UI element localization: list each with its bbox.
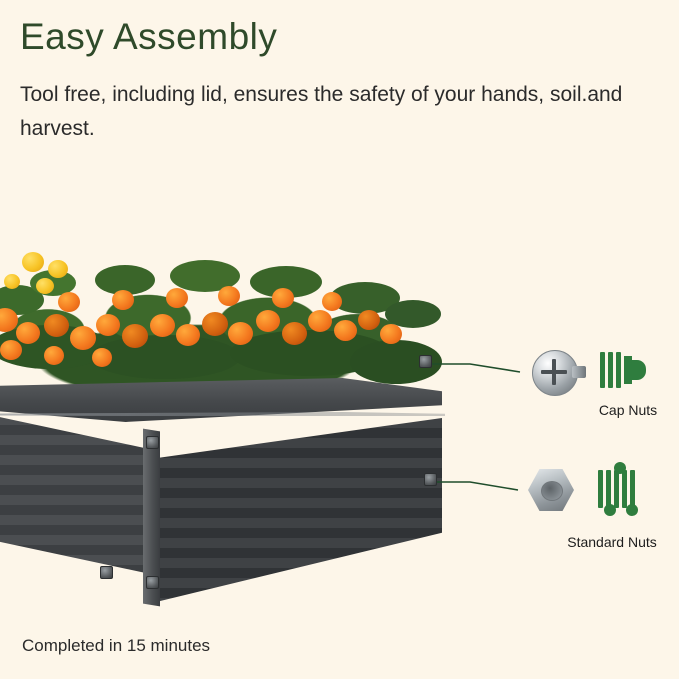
- footer-note: Completed in 15 minutes: [22, 636, 210, 656]
- standard-nuts-label: Standard Nuts: [512, 534, 679, 550]
- product-infographic: Easy Assembly Tool free, including lid, …: [0, 0, 679, 679]
- hex-nut-hole-icon: [541, 481, 563, 501]
- callout-standard-nuts: Standard Nuts: [0, 0, 679, 679]
